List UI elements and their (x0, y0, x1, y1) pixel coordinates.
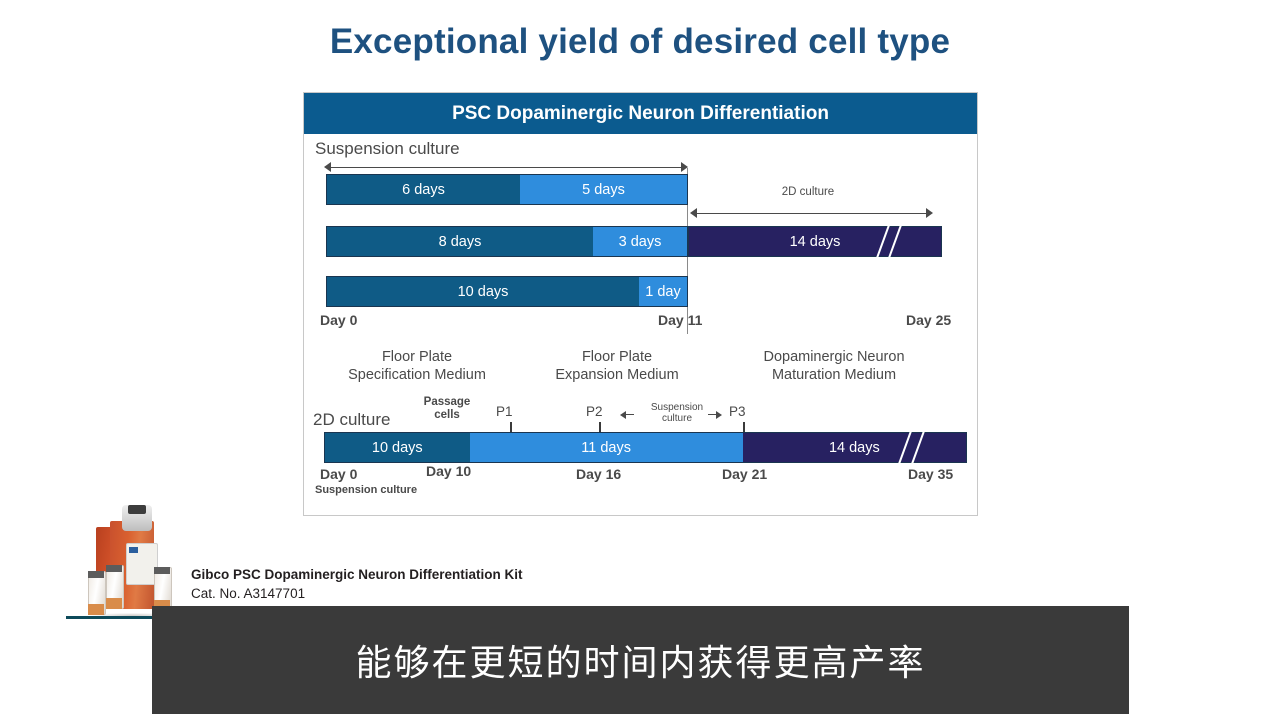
bar-segment-14-days: 14 days (689, 227, 941, 256)
medium-line2: Expansion Medium (555, 367, 678, 383)
bar-segment-5-days: 5 days (520, 175, 687, 204)
bar-segment-2d-11-days: 11 days (470, 433, 743, 462)
twod-day-label-day10: Day 10 (426, 463, 471, 479)
panel-body: Suspension culture 6 days 5 days 2D cult… (304, 134, 977, 517)
suspension-culture-right-arrow-icon (704, 410, 722, 419)
table-row: 14 days (688, 226, 942, 257)
passage-label-p2: P2 (586, 404, 603, 419)
twod-culture-section-label: 2D culture (313, 410, 390, 430)
suspension-culture-section-label: Suspension culture (315, 139, 460, 159)
medium-line1: Floor Plate (382, 349, 452, 365)
passage-cells-line2: cells (434, 409, 460, 421)
twod-footnote-suspension-culture: Suspension culture (315, 484, 417, 496)
medium-label-floor-plate-expansion: Floor Plate Expansion Medium (522, 348, 712, 384)
bar-segment-1-day: 1 day (639, 277, 687, 306)
twod-day-label-day21: Day 21 (722, 466, 767, 482)
medium-label-dopaminergic-maturation: Dopaminergic Neuron Maturation Medium (722, 348, 946, 384)
suspension-inline-line2: culture (662, 413, 692, 424)
table-row: 10 days 1 day (326, 276, 688, 307)
page-title: Exceptional yield of desired cell type (0, 22, 1280, 62)
day-label-day25: Day 25 (906, 312, 951, 328)
subtitle-bar: 能够在更短的时间内获得更高产率 (152, 606, 1129, 714)
bar-segment-8-days: 8 days (327, 227, 593, 256)
product-catalog-label: Cat. No. A3147701 (191, 586, 305, 601)
twod-culture-range-arrow (690, 208, 933, 218)
suspension-culture-inline-label: Suspension culture (642, 402, 712, 424)
passage-label-p1: P1 (496, 404, 513, 419)
bar-segment-10-days: 10 days (327, 277, 639, 306)
passage-cells-line1: Passage (424, 396, 471, 408)
medium-label-floor-plate-specification: Floor Plate Specification Medium (322, 348, 512, 384)
medium-line1: Dopaminergic Neuron (763, 349, 904, 365)
product-name-label: Gibco PSC Dopaminergic Neuron Differenti… (191, 567, 523, 582)
suspension-culture-range-arrow (324, 162, 688, 172)
suspension-culture-left-arrow-icon (620, 410, 638, 419)
differentiation-diagram-panel: PSC Dopaminergic Neuron Differentiation … (303, 92, 978, 516)
passage-cells-label: Passage cells (414, 396, 480, 422)
accent-rule (66, 616, 154, 619)
bar-segment-6-days: 6 days (327, 175, 520, 204)
bar-segment-2d-10-days: 10 days (325, 433, 470, 462)
panel-header-title: PSC Dopaminergic Neuron Differentiation (304, 93, 977, 134)
twod-day-label-day0: Day 0 (320, 466, 357, 482)
twod-day-label-day16: Day 16 (576, 466, 621, 482)
bar-segment-2d-14-days: 14 days (743, 433, 966, 462)
twod-day-label-day35: Day 35 (908, 466, 953, 482)
product-photo (88, 503, 176, 618)
twod-culture-arrow-label: 2D culture (748, 186, 868, 199)
bar-segment-3-days: 3 days (593, 227, 687, 256)
day-label-day0: Day 0 (320, 312, 357, 328)
table-row: 6 days 5 days (326, 174, 688, 205)
medium-line2: Maturation Medium (772, 367, 896, 383)
bottle-cap-top (128, 505, 146, 514)
supplement-vial (106, 565, 124, 609)
supplement-vial (88, 571, 106, 615)
medium-line2: Specification Medium (348, 367, 486, 383)
supplement-vial (154, 567, 172, 611)
table-row: 8 days 3 days (326, 226, 688, 257)
medium-line1: Floor Plate (582, 349, 652, 365)
subtitle-text: 能够在更短的时间内获得更高产率 (355, 634, 925, 686)
table-row: 10 days 11 days 14 days (324, 432, 967, 463)
day-label-day11: Day 11 (658, 312, 702, 328)
suspension-inline-line1: Suspension (651, 402, 703, 413)
passage-label-p3: P3 (729, 404, 746, 419)
